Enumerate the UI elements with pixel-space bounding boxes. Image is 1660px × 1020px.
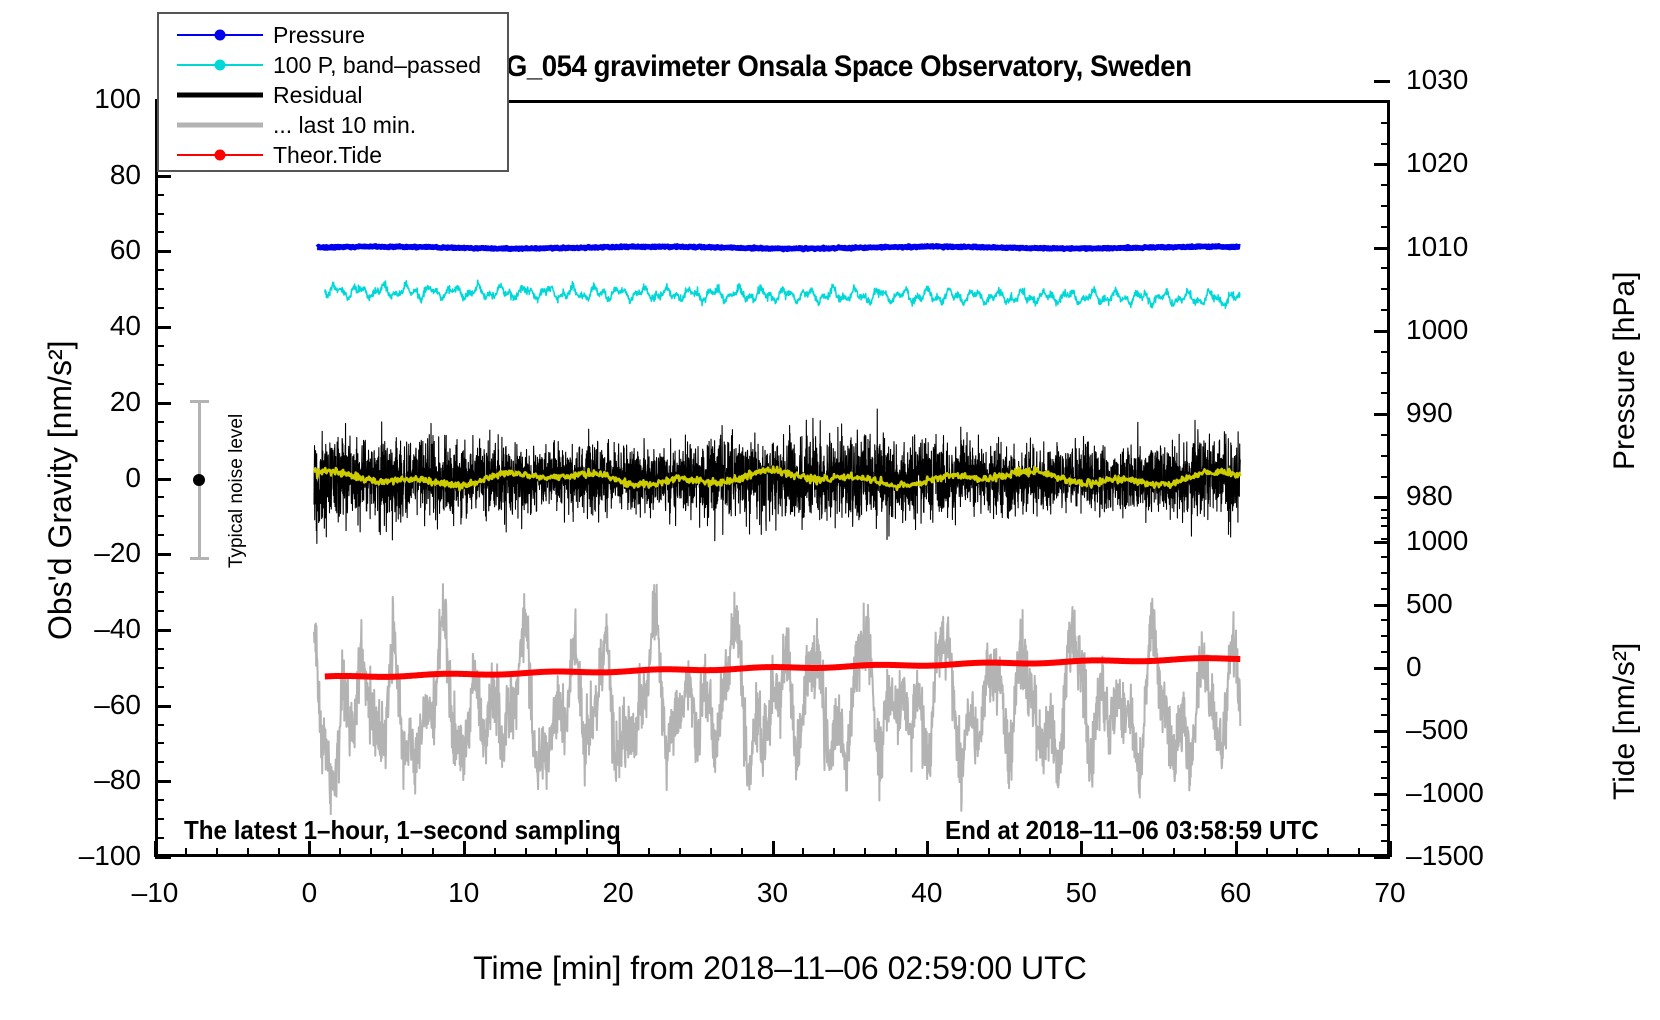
y-tick-minor xyxy=(155,648,164,650)
y-tick-major xyxy=(155,856,171,859)
x-tick-minor xyxy=(278,848,280,857)
tide-tick-minor xyxy=(1381,556,1390,558)
legend-marker-icon xyxy=(215,150,226,161)
y-tick-label: 100 xyxy=(51,83,141,115)
tide-tick-major xyxy=(1374,793,1390,796)
y-tick-minor xyxy=(155,686,164,688)
y-tick-minor xyxy=(155,667,164,669)
legend-swatch-icon xyxy=(177,24,263,46)
x-tick-minor xyxy=(1019,848,1021,857)
y-tick-label: 60 xyxy=(51,234,141,266)
noise-bar-bottom-cap xyxy=(190,557,209,560)
x-tick-minor xyxy=(555,848,557,857)
x-tick-minor xyxy=(833,848,835,857)
tide-tick-minor xyxy=(1381,761,1390,763)
gravimeter-chart-page: SCG_054 gravimeter Onsala Space Observat… xyxy=(0,0,1660,1020)
tide-tick-label: 0 xyxy=(1406,651,1516,683)
tide-tick-major xyxy=(1374,730,1390,733)
x-tick-minor xyxy=(586,848,588,857)
tide-tick-minor xyxy=(1381,572,1390,574)
tide-tick-label: –1500 xyxy=(1406,840,1516,872)
y-tick-minor xyxy=(155,383,164,385)
pressure-tick-label: 990 xyxy=(1406,397,1516,429)
tide-tick-minor xyxy=(1381,824,1390,826)
y-tick-minor xyxy=(155,288,164,290)
y-tick-minor xyxy=(155,496,164,498)
y-tick-major xyxy=(155,478,171,481)
tide-tick-label: 1000 xyxy=(1406,525,1516,557)
legend-swatch-icon xyxy=(177,144,263,166)
y-tick-minor xyxy=(155,307,164,309)
x-tick-minor xyxy=(1358,848,1360,857)
x-tick-minor xyxy=(370,848,372,857)
tide-tick-minor xyxy=(1381,619,1390,621)
y-tick-major xyxy=(155,175,171,178)
y-axis-pressure-title: Pressure [hPa] xyxy=(1608,272,1642,470)
tide-tick-minor xyxy=(1381,509,1390,511)
y-tick-minor xyxy=(155,345,164,347)
y-tick-label: –80 xyxy=(51,764,141,796)
tide-tick-label: –1000 xyxy=(1406,777,1516,809)
y-tick-minor xyxy=(155,610,164,612)
x-tick-minor xyxy=(679,848,681,857)
legend-item[interactable]: Residual xyxy=(159,80,507,110)
pressure-tick-minor xyxy=(1381,101,1390,103)
legend-item-label: Theor.Tide xyxy=(273,142,382,169)
legend-item-label: ... last 10 min. xyxy=(273,112,416,139)
pressure-tick-major xyxy=(1374,413,1390,416)
y-tick-minor xyxy=(155,591,164,593)
legend-item-label: Pressure xyxy=(273,22,365,49)
y-tick-minor xyxy=(155,440,164,442)
y-tick-minor xyxy=(155,837,164,839)
x-tick-minor xyxy=(1204,848,1206,857)
x-tick-minor xyxy=(401,848,403,857)
x-tick-major xyxy=(926,841,929,857)
y-tick-minor xyxy=(155,799,164,801)
tide-tick-minor xyxy=(1381,525,1390,527)
legend-item[interactable]: Theor.Tide xyxy=(159,140,507,170)
pressure-tick-label: 980 xyxy=(1406,480,1516,512)
legend-item[interactable]: 100 P, band–passed xyxy=(159,50,507,80)
pressure-tick-minor xyxy=(1381,372,1390,374)
legend-line-icon xyxy=(177,93,263,98)
tide-tick-label: –500 xyxy=(1406,714,1516,746)
x-tick-label: –10 xyxy=(105,877,205,909)
sampling-note: The latest 1–hour, 1–second sampling xyxy=(184,815,621,846)
y-tick-major xyxy=(155,326,171,329)
x-tick-label: 0 xyxy=(259,877,359,909)
legend-marker-icon xyxy=(215,60,226,71)
y-tick-major xyxy=(155,250,171,253)
tide-tick-major xyxy=(1374,604,1390,607)
y-tick-major xyxy=(155,629,171,632)
y-tick-minor xyxy=(155,194,164,196)
x-tick-label: 70 xyxy=(1340,877,1440,909)
noise-level-label: Typical noise level xyxy=(226,414,248,568)
y-tick-minor xyxy=(155,459,164,461)
pressure-tick-label: 1030 xyxy=(1406,64,1516,96)
pressure-tick-major xyxy=(1374,330,1390,333)
legend-item-label: 100 P, band–passed xyxy=(273,52,481,79)
noise-center-dot xyxy=(193,474,205,486)
tide-tick-minor xyxy=(1381,698,1390,700)
tide-tick-minor xyxy=(1381,809,1390,811)
y-tick-major xyxy=(155,402,171,405)
y-tick-minor xyxy=(155,231,164,233)
x-tick-major xyxy=(772,841,775,857)
tide-tick-minor xyxy=(1381,635,1390,637)
x-tick-minor xyxy=(648,848,650,857)
pressure-tick-minor xyxy=(1381,288,1390,290)
x-tick-major xyxy=(1389,841,1392,857)
pressure-tick-minor xyxy=(1381,476,1390,478)
y-tick-minor xyxy=(155,818,164,820)
tide-tick-minor xyxy=(1381,746,1390,748)
pressure-tick-minor xyxy=(1381,205,1390,207)
pressure-tick-major xyxy=(1374,80,1390,83)
x-tick-label: 60 xyxy=(1186,877,1286,909)
x-tick-minor xyxy=(216,848,218,857)
y-axis-tide-title: Tide [nm/s²] xyxy=(1608,643,1642,800)
y-tick-minor xyxy=(155,761,164,763)
y-tick-minor xyxy=(155,572,164,574)
y-tick-minor xyxy=(155,269,164,271)
x-tick-minor xyxy=(432,848,434,857)
x-tick-minor xyxy=(957,848,959,857)
x-tick-minor xyxy=(1327,848,1329,857)
legend-item[interactable]: Pressure xyxy=(159,20,507,50)
y-tick-major xyxy=(155,780,171,783)
legend-swatch-icon xyxy=(177,84,263,106)
x-tick-minor xyxy=(247,848,249,857)
x-tick-label: 10 xyxy=(414,877,514,909)
y-tick-major xyxy=(155,553,171,556)
x-tick-minor xyxy=(710,848,712,857)
pressure-tick-minor xyxy=(1381,122,1390,124)
pressure-tick-minor xyxy=(1381,226,1390,228)
pressure-tick-major xyxy=(1374,496,1390,499)
x-tick-minor xyxy=(185,848,187,857)
x-tick-minor xyxy=(1049,848,1051,857)
legend-item[interactable]: ... last 10 min. xyxy=(159,110,507,140)
pressure-tick-minor xyxy=(1381,143,1390,145)
x-tick-minor xyxy=(525,848,527,857)
x-tick-minor xyxy=(1142,848,1144,857)
x-tick-minor xyxy=(1173,848,1175,857)
tide-tick-minor xyxy=(1381,714,1390,716)
pressure-tick-minor xyxy=(1381,434,1390,436)
tide-tick-minor xyxy=(1381,683,1390,685)
pressure-tick-minor xyxy=(1381,309,1390,311)
x-tick-minor xyxy=(1266,848,1268,857)
pressure-tick-minor xyxy=(1381,455,1390,457)
tide-tick-minor xyxy=(1381,588,1390,590)
pressure-tick-label: 1010 xyxy=(1406,231,1516,263)
pressure-tick-label: 1000 xyxy=(1406,314,1516,346)
x-tick-minor xyxy=(741,848,743,857)
tide-tick-major xyxy=(1374,541,1390,544)
x-tick-minor xyxy=(494,848,496,857)
end-time-note: End at 2018–11–06 03:58:59 UTC xyxy=(945,815,1319,846)
tide-tick-major xyxy=(1374,856,1390,859)
x-tick-minor xyxy=(339,848,341,857)
y-tick-minor xyxy=(155,421,164,423)
x-tick-minor xyxy=(1111,848,1113,857)
x-tick-minor xyxy=(895,848,897,857)
pressure-tick-minor xyxy=(1381,267,1390,269)
x-tick-label: 30 xyxy=(723,877,823,909)
pressure-tick-minor xyxy=(1381,392,1390,394)
legend: Pressure100 P, band–passedResidual... la… xyxy=(157,12,509,172)
tide-tick-label: 500 xyxy=(1406,588,1516,620)
y-tick-label: –60 xyxy=(51,689,141,721)
x-tick-minor xyxy=(802,848,804,857)
y-tick-label: 40 xyxy=(51,310,141,342)
x-tick-label: 40 xyxy=(877,877,977,909)
data-traces xyxy=(155,100,1390,857)
x-tick-label: 20 xyxy=(568,877,668,909)
tide-tick-major xyxy=(1374,667,1390,670)
y-axis-left-title: Obs'd Gravity [nm/s²] xyxy=(42,341,79,641)
legend-line-icon xyxy=(177,123,263,128)
y-tick-minor xyxy=(155,213,164,215)
y-tick-major xyxy=(155,705,171,708)
pressure-tick-major xyxy=(1374,247,1390,250)
y-tick-minor xyxy=(155,534,164,536)
tide-tick-minor xyxy=(1381,777,1390,779)
pressure-tick-minor xyxy=(1381,184,1390,186)
legend-swatch-icon xyxy=(177,54,263,76)
legend-item-label: Residual xyxy=(273,82,363,109)
plot-area xyxy=(155,100,1390,857)
tide-tick-minor xyxy=(1381,651,1390,653)
pressure-tick-minor xyxy=(1381,517,1390,519)
y-tick-minor xyxy=(155,515,164,517)
pressure-tick-label: 1020 xyxy=(1406,147,1516,179)
tide-tick-minor xyxy=(1381,840,1390,842)
legend-swatch-icon xyxy=(177,114,263,136)
x-tick-minor xyxy=(988,848,990,857)
x-axis-title: Time [min] from 2018–11–06 02:59:00 UTC xyxy=(0,950,1560,987)
y-tick-minor xyxy=(155,742,164,744)
x-tick-minor xyxy=(1296,848,1298,857)
y-tick-label: 80 xyxy=(51,159,141,191)
pressure-tick-major xyxy=(1374,163,1390,166)
y-tick-minor xyxy=(155,724,164,726)
x-tick-major xyxy=(154,841,157,857)
x-tick-minor xyxy=(864,848,866,857)
y-tick-minor xyxy=(155,364,164,366)
y-tick-label: –100 xyxy=(51,840,141,872)
pressure-tick-minor xyxy=(1381,351,1390,353)
legend-marker-icon xyxy=(215,30,226,41)
x-tick-label: 50 xyxy=(1031,877,1131,909)
